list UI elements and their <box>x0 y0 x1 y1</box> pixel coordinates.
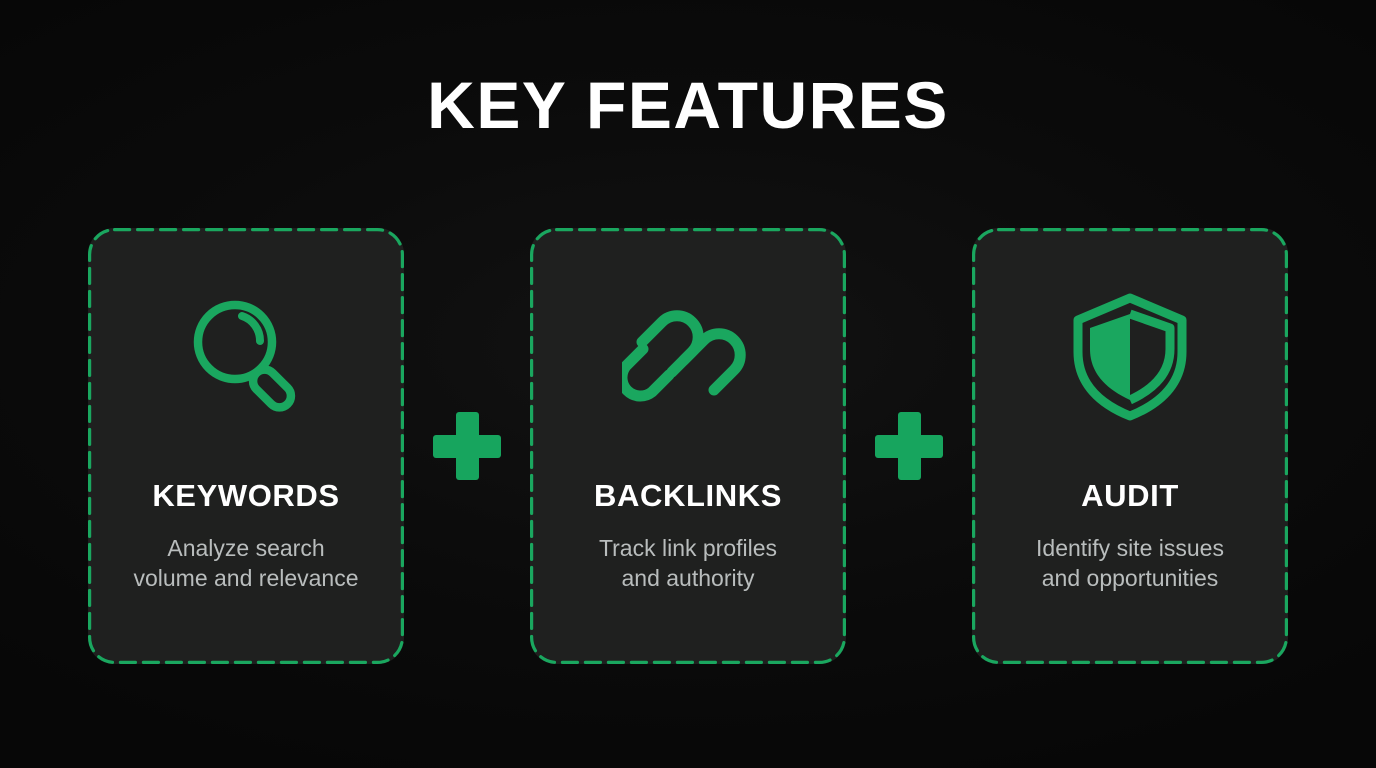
card-title: KEYWORDS <box>152 480 339 511</box>
card-description: Identify site issues and opportunities <box>995 533 1265 594</box>
magnifying-glass-icon <box>180 290 312 422</box>
plus-vertical-bar <box>898 412 921 480</box>
card-description-line-2: and authority <box>622 565 755 591</box>
key-features-slide: KEY FEATURES KEYWORDS Analyze search <box>0 0 1376 768</box>
card-description: Track link profiles and authority <box>553 533 823 594</box>
feature-card-backlinks[interactable]: BACKLINKS Track link profiles and author… <box>530 228 846 664</box>
link-chain-icon <box>622 290 754 422</box>
card-description-line-2: and opportunities <box>1042 565 1218 591</box>
card-description-line-2: volume and relevance <box>133 565 358 591</box>
feature-cards-row: KEYWORDS Analyze search volume and relev… <box>88 228 1288 664</box>
plus-separator-1 <box>432 411 502 481</box>
card-description-line-1: Analyze search <box>167 535 324 561</box>
page-title: KEY FEATURES <box>427 72 949 138</box>
card-title: BACKLINKS <box>594 480 782 511</box>
card-description-line-1: Identify site issues <box>1036 535 1224 561</box>
card-description: Analyze search volume and relevance <box>111 533 381 594</box>
feature-card-keywords[interactable]: KEYWORDS Analyze search volume and relev… <box>88 228 404 664</box>
feature-card-audit[interactable]: AUDIT Identify site issues and opportuni… <box>972 228 1288 664</box>
card-title: AUDIT <box>1081 480 1179 511</box>
card-description-line-1: Track link profiles <box>599 535 777 561</box>
plus-vertical-bar <box>456 412 479 480</box>
shield-icon <box>1064 290 1196 422</box>
plus-separator-2 <box>874 411 944 481</box>
